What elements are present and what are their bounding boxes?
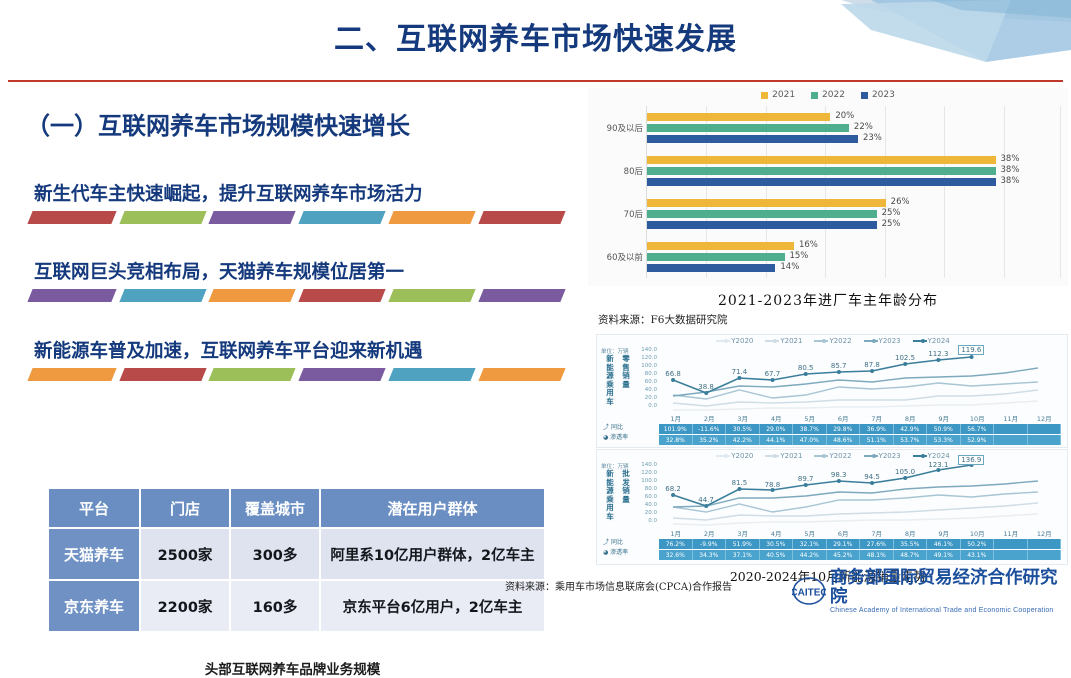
cell-cities-jd: 160多 <box>231 581 319 631</box>
retail-point-label: 71.4 <box>732 368 748 376</box>
legend-2023: 2023 <box>861 90 895 100</box>
bullet-text-1: 新生代车主快速崛起，提升互联网养车市场活力 <box>34 180 554 206</box>
wholesale-data-table: 1月2月3月 4月5月6月 7月8月9月 10月11月12月 76.2%-9.9… <box>659 528 1061 560</box>
retail-point-label: 87.8 <box>864 361 880 369</box>
retail-point-label: 67.7 <box>765 370 781 378</box>
wholesale-lines <box>659 462 1061 526</box>
wholesale-point-label: 98.3 <box>831 471 847 479</box>
bullet-bar-3 <box>30 368 563 381</box>
wholesale-point-label: 68.2 <box>665 485 681 493</box>
legend-y2020: Y2020 <box>716 452 753 460</box>
retail-plot: 66.8 38.8 71.4 67.7 80.5 85.7 87.8 102.5… <box>659 347 1061 411</box>
wholesale-plot: 68.2 44.7 81.5 78.8 89.7 98.3 94.5 105.0… <box>659 462 1061 526</box>
pgram-1-1 <box>27 211 116 224</box>
bar-value: 23% <box>863 133 882 143</box>
section-title: （一）互联网养车市场规模快速增长 <box>26 106 410 141</box>
retail-penetration-label: ◕ 渗透率 <box>603 432 628 441</box>
legend-y2020: Y2020 <box>716 337 753 345</box>
wholesale-point-label: 94.5 <box>864 473 880 481</box>
pgram-1-4 <box>299 211 386 224</box>
bar-value: 38% <box>1001 165 1020 175</box>
platform-table: 平台 门店 覆盖城市 潜在用户群体 天猫养车 2500家 300多 阿里系10亿… <box>47 487 546 633</box>
legend-y2024: Y2024 <box>913 337 950 345</box>
caitec-logo-icon: CAITEC <box>792 576 826 606</box>
pgram-2-1 <box>27 289 116 302</box>
bar-value: 16% <box>799 240 818 250</box>
retail-yoy-label: ⤴ 同比 <box>603 422 623 431</box>
age-distribution-bar-chart: 2021 2022 2023 90及以后 20% 22% 23% <box>588 88 1068 286</box>
logo-name-cn: 商务部国际贸易经济合作研究院 <box>830 569 1067 607</box>
pie-icon: ◕ <box>603 434 608 441</box>
th-users: 潜在用户群体 <box>321 489 544 527</box>
line-chart-source: 资料来源：乘用车市场信息联席会(CPCA)合作报告 <box>505 578 732 593</box>
bar-group-70s: 70后 26% 25% 25% <box>647 195 1060 233</box>
bar-value: 26% <box>891 197 910 207</box>
left-column: （一）互联网养车市场规模快速增长 新生代车主快速崛起，提升互联网养车市场活力 互… <box>0 88 585 607</box>
bar-value: 14% <box>780 262 799 272</box>
wholesale-point-label: 89.7 <box>798 475 814 483</box>
retail-lines <box>659 347 1061 411</box>
legend-y2023: Y2023 <box>864 452 901 460</box>
pgram-1-2 <box>119 211 206 224</box>
pgram-3-3 <box>209 368 296 381</box>
retail-point-label: 112.3 <box>928 350 948 358</box>
cell-cities-tmall: 300多 <box>231 529 319 579</box>
bullet-bar-2 <box>30 289 563 302</box>
retail-axis-title2: 零售销量 <box>621 355 631 389</box>
bar-value: 25% <box>882 208 901 218</box>
bullet-text-2: 互联网巨头竞相布局，天猫养车规模位居第一 <box>34 258 554 284</box>
bullet-item-3: 新能源车普及加速，互联网养车平台迎来新机遇 <box>34 337 554 381</box>
bar-value: 20% <box>835 111 854 121</box>
bar-chart-source: 资料来源：F6大数据研究院 <box>598 312 727 327</box>
wholesale-point-label: 105.0 <box>895 468 915 476</box>
logo-name-en: Chinese Academy of International Trade a… <box>830 607 1067 614</box>
pgram-2-4 <box>299 289 386 302</box>
bar-value: 25% <box>882 219 901 229</box>
wholesale-legend: Y2020 Y2021 Y2022 Y2023 Y2024 <box>597 452 1069 460</box>
pie-icon: ◕ <box>603 549 608 556</box>
cell-stores-jd: 2200家 <box>141 581 229 631</box>
trend-icon: ⤴ <box>603 539 609 546</box>
legend-y2022: Y2022 <box>814 337 851 345</box>
wholesale-penetration-label: ◕ 渗透率 <box>603 547 628 556</box>
bullet-item-2: 互联网巨头竞相布局，天猫养车规模位居第一 <box>34 258 554 302</box>
wholesale-yoy-row: 76.2%-9.9% 51.9%30.5% 32.1%29.1% 27.6%35… <box>659 538 1061 549</box>
wholesale-point-label: 123.1 <box>928 461 948 469</box>
retail-point-label: 102.5 <box>895 354 915 362</box>
retail-y-axis: 140.0120.0 100.080.0 60.040.0 20.00.0 <box>631 347 657 409</box>
bar-group-60s: 60及以前 16% 15% 14% <box>647 238 1060 276</box>
retail-axis-title: 新能源乘用车 <box>605 355 615 406</box>
trend-icon: ⤴ <box>603 424 609 431</box>
retail-point-label: 80.5 <box>798 364 814 372</box>
bar-value: 38% <box>1001 154 1020 164</box>
pgram-3-6 <box>478 368 565 381</box>
bar-value: 15% <box>789 251 808 261</box>
legend-y2023: Y2023 <box>864 337 901 345</box>
wholesale-penetration-row: 32.6%34.3% 37.1%40.5% 44.2%45.2% 48.1%48… <box>659 549 1061 560</box>
pgram-2-3 <box>209 289 296 302</box>
nev-wholesale-line-chart: Y2020 Y2021 Y2022 Y2023 Y2024 单位：万辆 新能源乘… <box>596 449 1068 565</box>
legend-y2024: Y2024 <box>913 452 950 460</box>
retail-point-label: 66.8 <box>665 370 681 378</box>
pgram-2-5 <box>389 289 476 302</box>
bar-value: 38% <box>1001 176 1020 186</box>
wholesale-point-label: 81.5 <box>732 479 748 487</box>
th-platform: 平台 <box>49 489 139 527</box>
table-header-row: 平台 门店 覆盖城市 潜在用户群体 <box>49 489 544 527</box>
pgram-3-1 <box>27 368 116 381</box>
organization-logo: CAITEC 商务部国际贸易经济合作研究院 Chinese Academy of… <box>792 575 1067 607</box>
retail-point-label: 38.8 <box>698 383 714 391</box>
retail-legend: Y2020 Y2021 Y2022 Y2023 Y2024 <box>597 337 1069 345</box>
th-stores: 门店 <box>141 489 229 527</box>
bullet-item-1: 新生代车主快速崛起，提升互联网养车市场活力 <box>34 180 554 224</box>
pgram-3-5 <box>389 368 476 381</box>
pgram-2-6 <box>478 289 565 302</box>
pgram-1-5 <box>389 211 476 224</box>
wholesale-point-label: 78.8 <box>765 481 781 489</box>
wholesale-yoy-label: ⤴ 同比 <box>603 537 623 546</box>
bar-chart-plot: 90及以后 20% 22% 23% 80后 38% 38% 38% <box>646 106 1060 278</box>
bullet-bar-1 <box>30 211 563 224</box>
retail-month-axis: 1月2月3月 4月5月6月 7月8月9月 10月11月12月 <box>659 413 1061 423</box>
bar-chart-legend: 2021 2022 2023 <box>588 90 1068 100</box>
wholesale-month-axis: 1月2月3月 4月5月6月 7月8月9月 10月11月12月 <box>659 528 1061 538</box>
cell-platform-tmall: 天猫养车 <box>49 529 139 579</box>
bar-group-label-60s: 60及以前 <box>591 251 643 263</box>
cell-stores-tmall: 2500家 <box>141 529 229 579</box>
bar-group-90s: 90及以后 20% 22% 23% <box>647 109 1060 147</box>
cell-users-tmall: 阿里系10亿用户群体，2亿车主 <box>321 529 544 579</box>
cell-platform-jd: 京东养车 <box>49 581 139 631</box>
legend-y2022: Y2022 <box>814 452 851 460</box>
retail-penetration-row: 32.8%35.2% 42.2%44.1% 47.0%48.6% 51.1%53… <box>659 434 1061 445</box>
legend-y2021: Y2021 <box>765 337 802 345</box>
table-caption: 头部互联网养车品牌业务规模 <box>0 658 585 678</box>
th-cities: 覆盖城市 <box>231 489 319 527</box>
wholesale-y-axis: 140.0120.0 100.080.0 60.040.0 20.00.0 <box>631 462 657 524</box>
page-title: 二、互联网养车市场快速发展 <box>0 14 1071 58</box>
wholesale-point-label: 44.7 <box>698 496 714 504</box>
legend-2022: 2022 <box>811 90 845 100</box>
bullet-text-3: 新能源车普及加速，互联网养车平台迎来新机遇 <box>34 337 554 363</box>
pgram-3-4 <box>299 368 386 381</box>
bar-group-label-80s: 80后 <box>591 165 643 177</box>
bar-value: 22% <box>854 122 873 132</box>
bar-group-label-70s: 70后 <box>591 208 643 220</box>
slide-header: 二、互联网养车市场快速发展 <box>0 0 1071 82</box>
retail-point-label-highlight: 119.6 <box>958 345 984 355</box>
pgram-1-6 <box>478 211 565 224</box>
bar-group-80s: 80后 38% 38% 38% <box>647 152 1060 190</box>
retail-yoy-row: 101.9%-11.6% 30.5%29.0% 38.7%29.8% 36.9%… <box>659 423 1061 434</box>
slide: 二、互联网养车市场快速发展 （一）互联网养车市场规模快速增长 新生代车主快速崛起… <box>0 0 1071 607</box>
table-row: 天猫养车 2500家 300多 阿里系10亿用户群体，2亿车主 <box>49 529 544 579</box>
header-rule <box>8 80 1063 82</box>
table-row: 京东养车 2200家 160多 京东平台6亿用户，2亿车主 <box>49 581 544 631</box>
retail-point-label: 85.7 <box>831 362 847 370</box>
nev-retail-line-chart: Y2020 Y2021 Y2022 Y2023 Y2024 单位：万辆 新能源乘… <box>596 334 1068 448</box>
wholesale-axis-title: 新能源乘用车 <box>605 470 615 521</box>
pgram-1-3 <box>209 211 296 224</box>
wholesale-point-label-highlight: 136.9 <box>958 455 984 465</box>
legend-y2021: Y2021 <box>765 452 802 460</box>
bar-chart-caption: 2021-2023年进厂车主年龄分布 <box>588 290 1068 310</box>
bar-chart-groups: 90及以后 20% 22% 23% 80后 38% 38% 38% <box>647 106 1060 278</box>
svg-text:CAITEC: CAITEC <box>792 588 826 599</box>
pgram-3-2 <box>119 368 206 381</box>
pgram-2-2 <box>119 289 206 302</box>
bar-group-label-90s: 90及以后 <box>591 122 643 134</box>
retail-data-table: 1月2月3月 4月5月6月 7月8月9月 10月11月12月 101.9%-11… <box>659 413 1061 445</box>
wholesale-axis-title2: 批发销量 <box>621 470 631 504</box>
legend-2021: 2021 <box>761 90 795 100</box>
